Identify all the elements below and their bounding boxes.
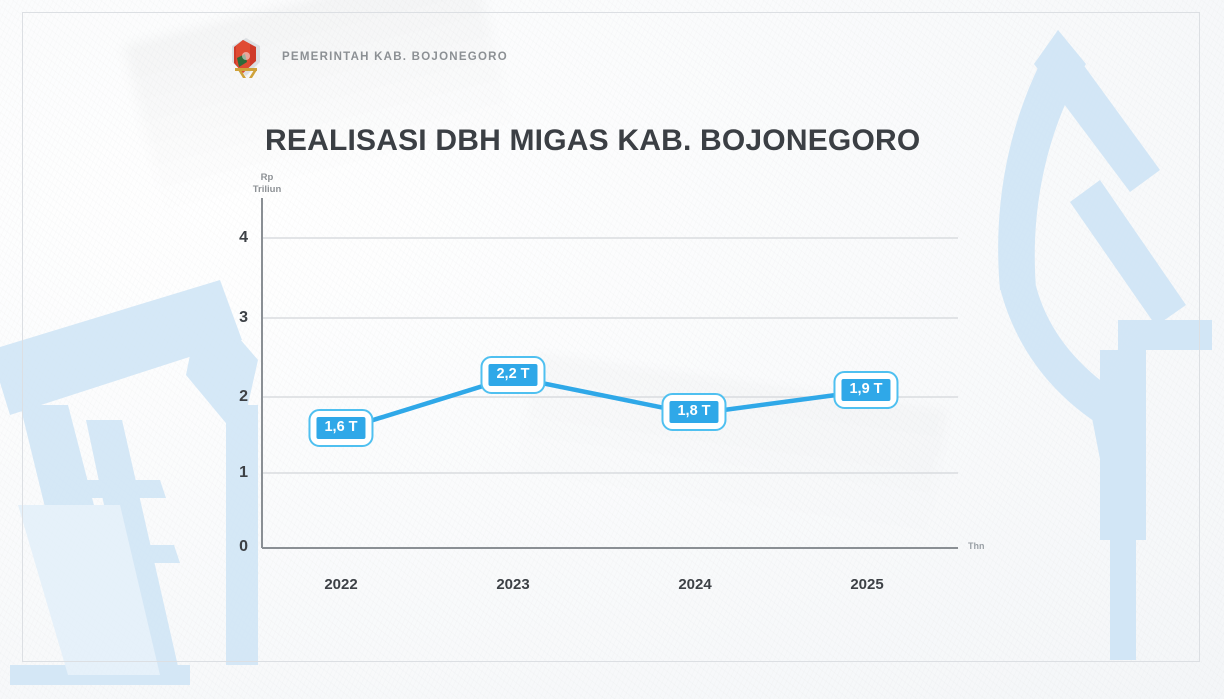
- data-point-label-2022[interactable]: 1,6 T: [308, 409, 373, 447]
- data-point-value-2023: 2,2 T: [488, 364, 537, 386]
- y-tick-2: 2: [212, 388, 248, 406]
- x-tick-2025: 2025: [812, 576, 922, 593]
- y-tick-4: 4: [212, 229, 248, 247]
- y-tick-0: 0: [212, 538, 248, 556]
- y-tick-3: 3: [212, 309, 248, 327]
- line-chart: Rp Triliun Thn 4 3 2 1 0 20: [0, 0, 1224, 699]
- y-tick-1: 1: [212, 464, 248, 482]
- slide-canvas: PEMERINTAH KAB. BOJONEGORO REALISASI DBH…: [0, 0, 1224, 699]
- data-point-label-2023[interactable]: 2,2 T: [480, 356, 545, 394]
- data-point-label-2025[interactable]: 1,9 T: [833, 371, 898, 409]
- data-point-value-2022: 1,6 T: [316, 417, 365, 439]
- x-tick-2023: 2023: [458, 576, 568, 593]
- x-tick-2022: 2022: [286, 576, 396, 593]
- x-tick-2024: 2024: [640, 576, 750, 593]
- data-point-label-2024[interactable]: 1,8 T: [661, 393, 726, 431]
- data-point-value-2025: 1,9 T: [841, 379, 890, 401]
- data-point-value-2024: 1,8 T: [669, 401, 718, 423]
- series-line: [341, 377, 866, 430]
